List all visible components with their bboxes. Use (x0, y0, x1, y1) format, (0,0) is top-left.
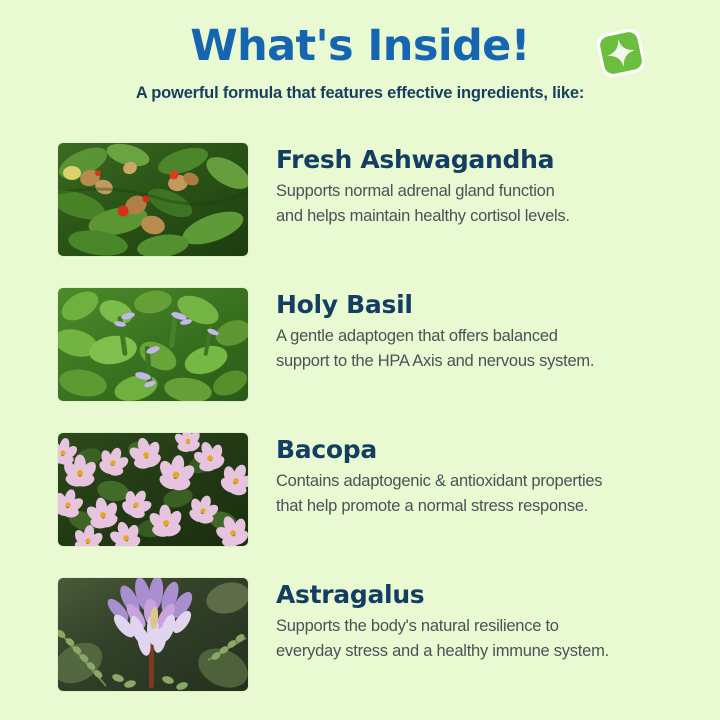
list-item: Holy Basil A gentle adaptogen that offer… (0, 282, 720, 427)
ingredient-description: Supports the body's natural resilience t… (276, 614, 609, 664)
ingredient-copy: Fresh Ashwagandha Supports normal adrena… (276, 137, 570, 229)
ingredient-image-holy-basil (58, 288, 248, 401)
ingredient-image-astragalus (58, 578, 248, 691)
whats-inside-panel: What's Inside! A powerful formula that f… (0, 0, 720, 720)
ingredient-image-bacopa (58, 433, 248, 546)
list-item: Fresh Ashwagandha Supports normal adrena… (0, 137, 720, 282)
ingredient-name: Astragalus (276, 580, 609, 610)
ingredient-name: Holy Basil (276, 290, 594, 320)
list-item: Bacopa Contains adaptogenic & antioxidan… (0, 427, 720, 572)
ingredient-description: Supports normal adrenal gland function a… (276, 179, 570, 229)
ingredient-list: Fresh Ashwagandha Supports normal adrena… (0, 137, 720, 717)
ingredient-copy: Holy Basil A gentle adaptogen that offer… (276, 282, 594, 374)
ingredient-image-ashwagandha (58, 143, 248, 256)
ingredient-description: A gentle adaptogen that offers balanced … (276, 324, 594, 374)
sparkle-badge-icon (590, 22, 652, 84)
ingredient-copy: Astragalus Supports the body's natural r… (276, 572, 609, 664)
ingredient-name: Fresh Ashwagandha (276, 145, 570, 175)
ingredient-name: Bacopa (276, 435, 602, 465)
ingredient-description: Contains adaptogenic & antioxidant prope… (276, 469, 602, 519)
page-subtitle: A powerful formula that features effecti… (0, 84, 720, 103)
ingredient-copy: Bacopa Contains adaptogenic & antioxidan… (276, 427, 602, 519)
header: What's Inside! A powerful formula that f… (0, 0, 720, 103)
list-item: Astragalus Supports the body's natural r… (0, 572, 720, 717)
